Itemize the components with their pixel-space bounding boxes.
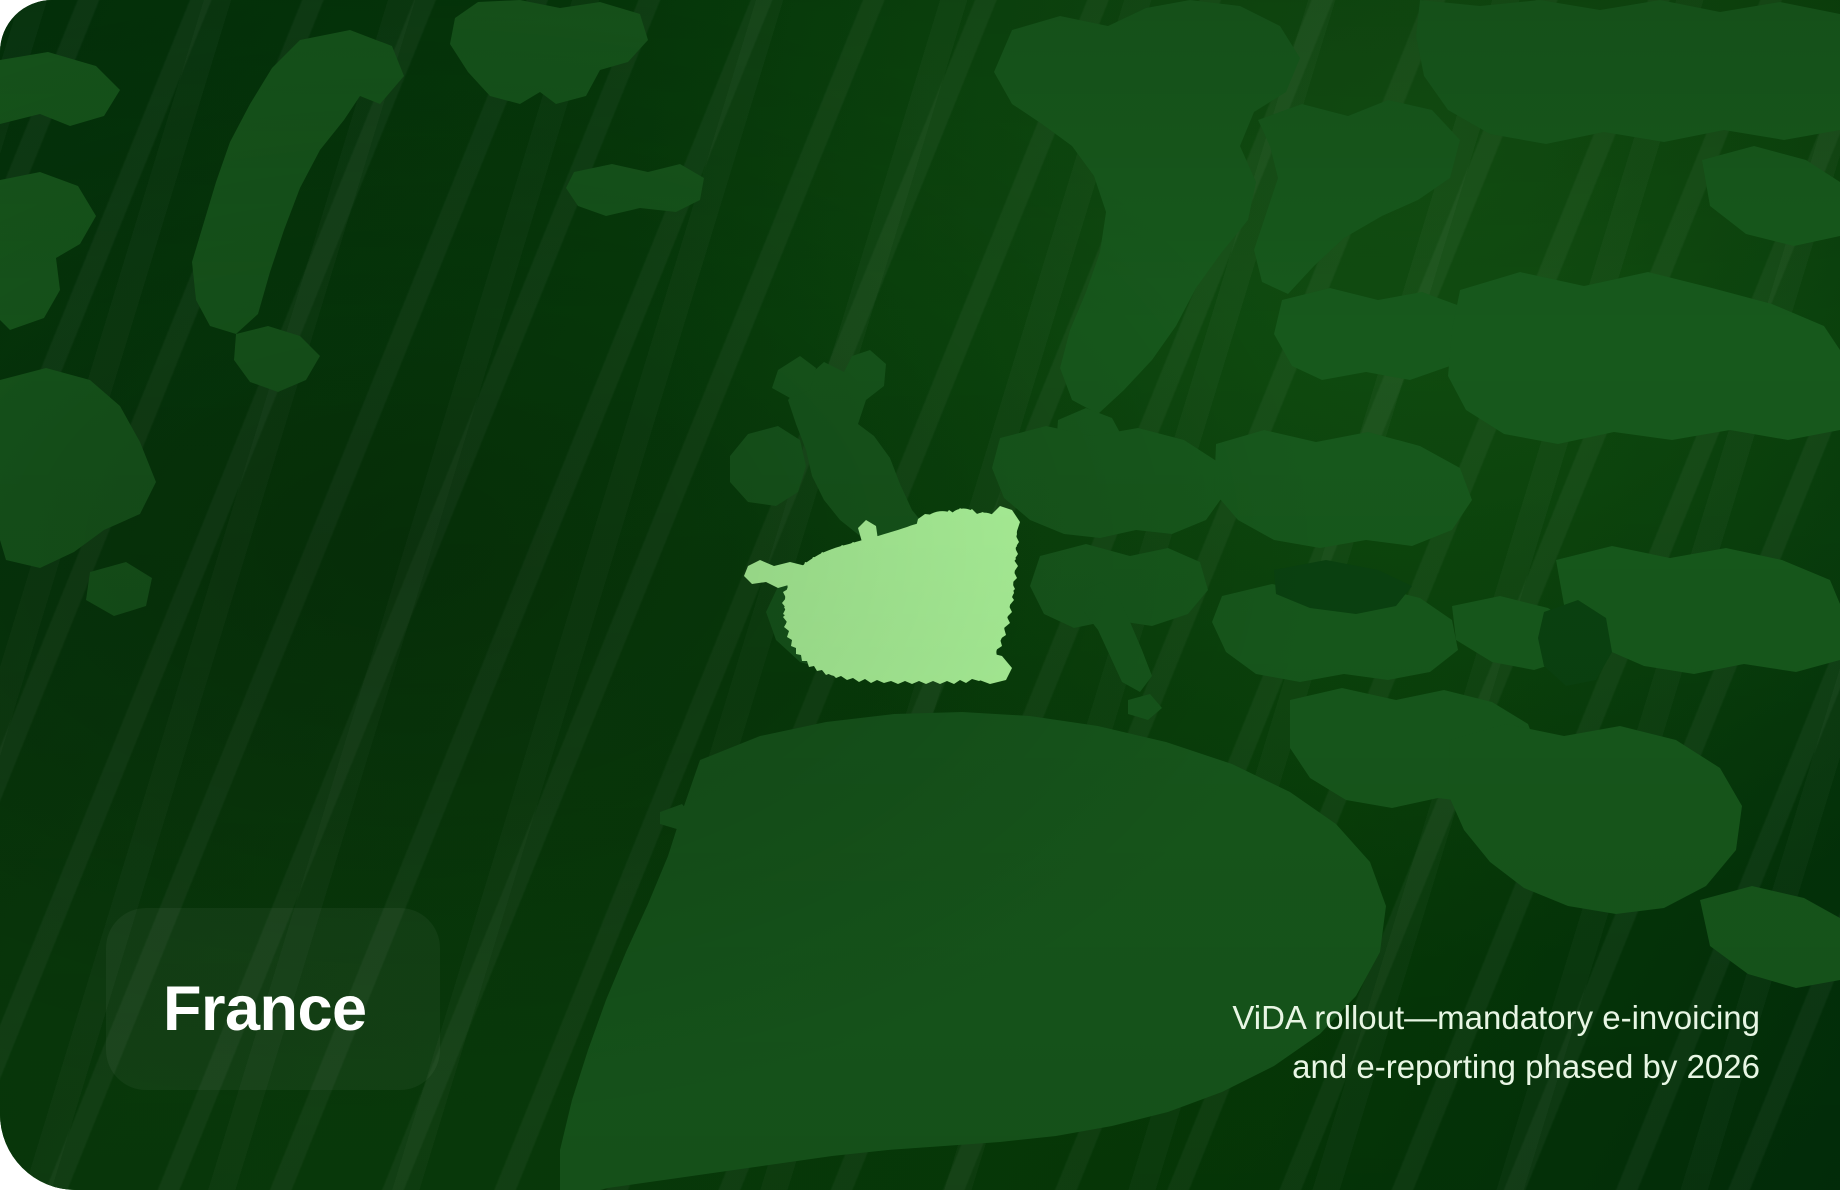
region-baltic: [1274, 288, 1470, 380]
region-ireland: [730, 426, 806, 506]
region-novaya-zemlya: [1702, 146, 1840, 246]
region-canada-arctic: [0, 52, 120, 126]
country-highlight-map-card: France ViDA rollout—mandatory e-invoicin…: [0, 0, 1840, 1190]
region-arabia: [1448, 724, 1742, 914]
region-greenland: [192, 0, 648, 334]
region-canada-newfoundland: [0, 368, 156, 568]
country-subtitle: ViDA rollout—mandatory e-invoicing and e…: [1040, 994, 1760, 1091]
region-arabia-east: [1700, 886, 1840, 988]
region-north-africa: [560, 712, 1386, 1190]
region-sweden-finland: [1254, 100, 1460, 294]
country-title: France: [163, 978, 367, 1041]
region-canada-maritimes: [86, 562, 152, 616]
region-eastern-europe: [1214, 430, 1472, 548]
region-central-europe: [992, 426, 1226, 538]
region-greenland-south: [234, 326, 320, 392]
region-canada-east: [0, 172, 96, 330]
region-italy-sicily: [1128, 694, 1162, 720]
region-scandinavia: [994, 0, 1300, 414]
region-france-body: [785, 509, 1017, 678]
region-russia-arctic: [1416, 0, 1840, 144]
region-russia-north: [1448, 272, 1840, 444]
region-iceland: [566, 164, 704, 216]
